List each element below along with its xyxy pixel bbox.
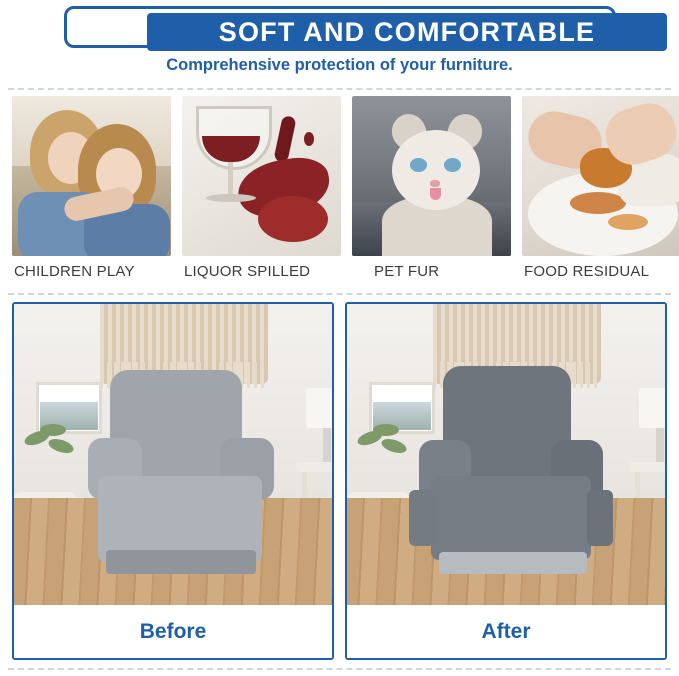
page-title: SOFT AND COMFORTABLE: [219, 17, 595, 48]
after-image: [347, 304, 665, 607]
divider-middle: [8, 293, 671, 295]
feature-label: PET FUR: [352, 263, 511, 280]
title-outline: SOFT AND COMFORTABLE: [64, 6, 616, 48]
pet-fur-image: [352, 96, 511, 256]
before-image: [14, 304, 332, 607]
children-play-image: [12, 96, 171, 256]
divider-bottom: [8, 668, 671, 670]
feature-item: CHILDREN PLAY: [12, 96, 171, 286]
header: SOFT AND COMFORTABLE Comprehensive prote…: [0, 0, 679, 88]
before-after-row: Before: [12, 302, 667, 660]
food-residual-image: [522, 96, 679, 256]
before-card: Before: [12, 302, 334, 660]
feature-item: FOOD RESIDUAL: [522, 96, 679, 286]
subtitle: Comprehensive protection of your furnitu…: [0, 56, 679, 75]
liquor-spilled-image: [182, 96, 341, 256]
feature-strip: CHILDREN PLAY LIQUOR SPILLED PET FUR: [12, 96, 667, 286]
feature-item: PET FUR: [352, 96, 511, 286]
feature-label: FOOD RESIDUAL: [522, 263, 679, 280]
divider-top: [8, 88, 671, 90]
after-card: After: [345, 302, 667, 660]
feature-label: LIQUOR SPILLED: [182, 263, 341, 280]
product-infographic: SOFT AND COMFORTABLE Comprehensive prote…: [0, 0, 679, 676]
feature-label: CHILDREN PLAY: [12, 263, 171, 280]
feature-item: LIQUOR SPILLED: [182, 96, 341, 286]
before-caption: Before: [14, 605, 332, 658]
title-banner: SOFT AND COMFORTABLE: [147, 13, 667, 51]
after-caption: After: [347, 605, 665, 658]
